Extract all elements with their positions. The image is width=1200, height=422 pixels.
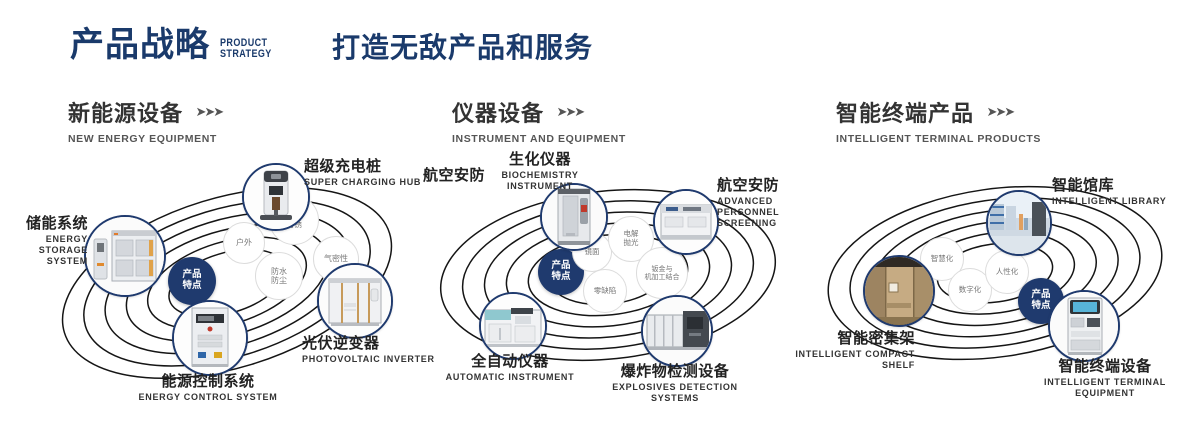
node-energy-storage[interactable] [84, 215, 166, 297]
node-label-en-line2: SHELF [755, 360, 915, 371]
node-label-explosives-detection: 爆炸物检测设备 EXPLOSIVES DETECTION SYSTEMS [590, 363, 760, 404]
section-heading-new-energy: 新能源设备 ➤➤➤ NEW ENERGY EQUIPMENT [68, 96, 222, 145]
node-biochemistry-instrument[interactable] [540, 183, 608, 251]
section-heading-instrument: 仪器设备 ➤➤➤ INSTRUMENT AND EQUIPMENT [452, 96, 626, 145]
core-bubble-line2: 特点 [551, 272, 570, 283]
node-label-en-line1: INTELLIGENT TERMINAL EQUIPMENT [1015, 377, 1195, 400]
explosive-detector-photo [643, 297, 711, 365]
page-title-block: 产品战略 PRODUCT STRATEGY [70, 28, 283, 62]
node-label-en-line2: INSTRUMENT [465, 181, 615, 192]
compact-shelf-photo [865, 257, 933, 325]
feature-bubble-line1: 户外 [236, 238, 252, 247]
node-intelligent-compact-shelf[interactable] [863, 255, 935, 327]
node-label-en-line1: INTELLIGENT LIBRARY [1052, 196, 1182, 207]
node-label-intelligent-library: 智能馆库 INTELLIGENT LIBRARY [1052, 177, 1182, 207]
library-hall-photo [988, 192, 1050, 254]
node-label-en-line1: AUTOMATIC INSTRUMENT [430, 372, 590, 383]
node-photovoltaic-inverter[interactable] [317, 263, 393, 339]
node-label-cn: 能源控制系统 [128, 373, 288, 390]
node-explosives-detection[interactable] [641, 295, 713, 367]
cluster-new-energy: 产品 特点 户外 防腐 防锈 防水 防尘 气密性 [30, 155, 430, 400]
screening-machine-photo [655, 191, 717, 253]
battery-cabinet-photo [86, 217, 164, 295]
poster-canvas: 产品战略 PRODUCT STRATEGY 打造无敌产品和服务 新能源设备 ➤➤… [0, 0, 1200, 422]
feature-bubble-waterproof: 防水 防尘 [255, 252, 303, 300]
node-label-en-line1: ENERGY STORAGE [0, 234, 88, 257]
section-heading-cn: 新能源设备 [68, 96, 183, 128]
section-heading-en: INTELLIGENT TERMINAL PRODUCTS [836, 133, 1041, 145]
node-label-cn: 智能馆库 [1052, 177, 1182, 194]
feature-bubble-zero-defect: 零缺陷 [583, 269, 627, 313]
node-label-energy-control-system: 能源控制系统 ENERGY CONTROL SYSTEM [128, 373, 288, 403]
page-title: 产品战略 [70, 28, 210, 62]
chevron-right-icon: ➤➤➤ [195, 104, 222, 120]
feature-bubble-sheetmetal-machining: 钣金与 机加工结合 [636, 247, 688, 299]
node-label-cn: 智能密集架 [755, 330, 915, 347]
feature-bubble-line1: 钣金与 [645, 265, 680, 273]
feature-bubble-line1: 零缺陷 [594, 287, 617, 296]
feature-bubble-line1: 防水 [271, 267, 287, 276]
cluster-instrument: 产品 特点 镜面 电解 抛光 钣金与 机加工结合 零缺陷 [405, 155, 815, 400]
node-intelligent-library[interactable] [986, 190, 1052, 256]
node-label-cn: 储能系统 [0, 215, 88, 232]
node-label-cn: 全自动仪器 [430, 353, 590, 370]
automatic-analyzer-photo [481, 294, 545, 358]
biochem-scanner-photo [542, 185, 606, 249]
feature-bubble-line1: 智慧化 [931, 255, 954, 264]
page-title-en: PRODUCT STRATEGY [220, 38, 272, 60]
node-label-energy-storage: 储能系统 ENERGY STORAGE SYSTEM [0, 215, 88, 267]
node-label-automatic-instrument: 全自动仪器 AUTOMATIC INSTRUMENT [430, 353, 590, 383]
cluster-intelligent: 智慧化 数字化 人性化 产品 特点 [805, 155, 1200, 400]
node-label-biochemistry-instrument: 生化仪器 BIOCHEMISTRY INSTRUMENT [465, 151, 615, 192]
node-super-charging-hub[interactable] [242, 163, 310, 231]
node-label-en-line1: INTELLIGENT COMPACT [755, 349, 915, 360]
page-subtitle: 打造无敌产品和服务 [332, 34, 593, 62]
node-label-cn: 智能终端设备 [1015, 358, 1195, 375]
section-heading-en: NEW ENERGY EQUIPMENT [68, 133, 222, 145]
chevron-right-icon: ➤➤➤ [556, 104, 583, 120]
section-heading-intelligent: 智能终端产品 ➤➤➤ INTELLIGENT TERMINAL PRODUCTS [836, 96, 1041, 145]
pv-inverter-photo [319, 265, 391, 337]
feature-bubble-line1: 气密性 [324, 254, 348, 263]
feature-bubble-line1: 人性化 [996, 268, 1019, 277]
node-label-en-line2: SYSTEM [0, 256, 88, 267]
core-bubble-line2: 特点 [1031, 301, 1050, 312]
self-service-kiosk-photo [1050, 292, 1118, 360]
feature-bubble-line2: 防尘 [271, 276, 287, 285]
page-title-cn: 产品战略 [70, 25, 210, 65]
node-advanced-personnel-screening[interactable] [653, 189, 719, 255]
node-label-en-line1: ENERGY CONTROL SYSTEM [128, 392, 288, 403]
node-label-en-line1: EXPLOSIVES DETECTION SYSTEMS [590, 382, 760, 405]
section-heading-cn: 智能终端产品 [836, 96, 974, 128]
page-title-en-line2: STRATEGY [220, 49, 272, 60]
node-automatic-instrument[interactable] [479, 292, 547, 360]
charging-pile-photo [244, 165, 308, 229]
node-label-intelligent-compact-shelf: 智能密集架 INTELLIGENT COMPACT SHELF [755, 330, 915, 371]
node-intelligent-terminal-equipment[interactable] [1048, 290, 1120, 362]
node-label-en-line1: BIOCHEMISTRY [465, 170, 615, 181]
core-bubble: 产品 特点 [168, 257, 216, 305]
section-heading-cn: 仪器设备 [452, 96, 544, 128]
feature-bubble-line2: 抛光 [624, 239, 639, 248]
core-bubble-line2: 特点 [182, 281, 201, 292]
section-heading-en: INSTRUMENT AND EQUIPMENT [452, 133, 626, 145]
feature-bubble-line1: 数字化 [959, 286, 982, 295]
node-energy-control-system[interactable] [172, 300, 248, 376]
feature-bubble-line2: 机加工结合 [645, 273, 680, 281]
node-label-intelligent-terminal-equipment: 智能终端设备 INTELLIGENT TERMINAL EQUIPMENT [1015, 358, 1195, 399]
node-label-cn: 爆炸物检测设备 [590, 363, 760, 380]
chevron-right-icon: ➤➤➤ [986, 104, 1013, 120]
control-cabinet-photo [174, 302, 246, 374]
node-label-cn: 生化仪器 [465, 151, 615, 168]
